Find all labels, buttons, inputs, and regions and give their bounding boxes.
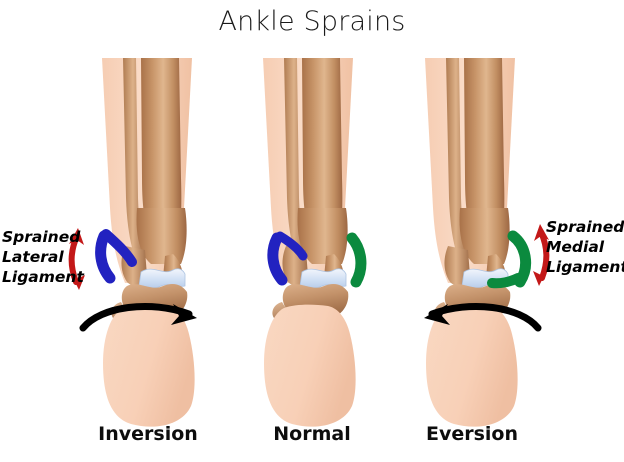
caption-inversion: Inversion <box>53 423 243 445</box>
medial-ligament-intact <box>352 238 361 282</box>
anatomy-illustration <box>0 0 624 462</box>
panel-inversion <box>69 58 197 427</box>
caption-eversion: Eversion <box>377 423 567 445</box>
panel-normal <box>263 58 361 427</box>
sprained-lateral-ligament-label: Sprained Lateral Ligament <box>2 228 78 287</box>
panel-eversion <box>424 58 549 427</box>
ankle-sprains-figure: Ankle Sprains <box>0 0 624 462</box>
sprained-medial-ligament-label: Sprained Medial Ligament <box>546 218 624 277</box>
